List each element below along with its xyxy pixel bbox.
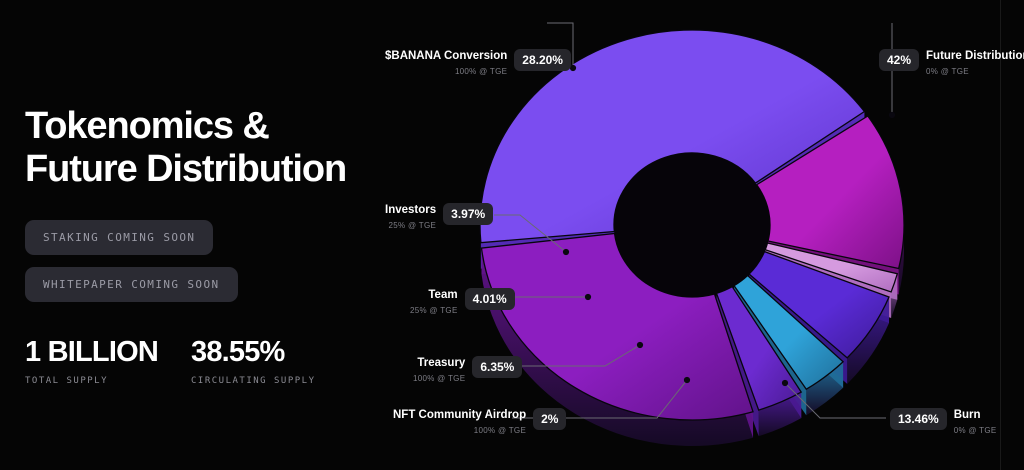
callout-label: $BANANA Conversion [385,49,507,64]
circulating-supply-label: CIRCULATING SUPPLY [191,376,316,386]
callout-burn[interactable]: 13.46% Burn 0% @ TGE [890,408,997,435]
callout-tge: 25% @ TGE [410,306,458,315]
circulating-supply-stat: 38.55% CIRCULATING SUPPLY [191,336,316,386]
callout-future-distribution[interactable]: 42% Future Distribution 0% @ TGE [879,49,1024,76]
callout-label: Team [428,288,457,303]
whitepaper-coming-soon-button[interactable]: WHITEPAPER COMING SOON [25,267,238,302]
callout-label: Burn [954,408,981,423]
callout-label: Investors [385,203,436,218]
total-supply-label: TOTAL SUPPLY [25,376,158,386]
callout-tge: 0% @ TGE [954,426,997,435]
staking-coming-soon-button[interactable]: STAKING COMING SOON [25,220,213,255]
callout-tge: 100% @ TGE [474,426,526,435]
callout-percent: 4.01% [465,288,515,310]
supply-stats: 1 BILLION TOTAL SUPPLY 38.55% CIRCULATIN… [25,336,355,386]
callout-percent: 3.97% [443,203,493,225]
circulating-supply-value: 38.55% [191,336,316,369]
callout-percent: 13.46% [890,408,947,430]
callout-team[interactable]: Team 25% @ TGE 4.01% [410,288,515,315]
callout-investors[interactable]: Investors 25% @ TGE 3.97% [385,203,493,230]
callout-label: Treasury [417,356,465,371]
callout-tge: 25% @ TGE [389,221,437,230]
total-supply-value: 1 BILLION [25,336,158,369]
callout-tge: 0% @ TGE [926,67,969,76]
page-title-line1: Tokenomics & [25,105,269,147]
callout-label: Future Distribution [926,49,1024,64]
page-title-line2: Future Distribution [25,148,355,191]
callout-treasury[interactable]: Treasury 100% @ TGE 6.35% [413,356,522,383]
total-supply-stat: 1 BILLION TOTAL SUPPLY [25,336,158,386]
callout-percent: 42% [879,49,919,71]
callout-nft-community-airdrop[interactable]: NFT Community Airdrop 100% @ TGE 2% [393,408,566,435]
callout-tge: 100% @ TGE [413,374,465,383]
tokenomics-page: Tokenomics & Future Distribution STAKING… [0,0,1024,470]
left-panel: Tokenomics & Future Distribution STAKING… [25,105,355,386]
callout-percent: 2% [533,408,566,430]
callout-tge: 100% @ TGE [455,67,507,76]
page-title: Tokenomics & Future Distribution [25,105,355,192]
callout-banana-conversion[interactable]: $BANANA Conversion 100% @ TGE 28.20% [385,49,571,76]
callout-percent: 6.35% [472,356,522,378]
callout-percent: 28.20% [514,49,571,71]
callout-label: NFT Community Airdrop [393,408,526,423]
